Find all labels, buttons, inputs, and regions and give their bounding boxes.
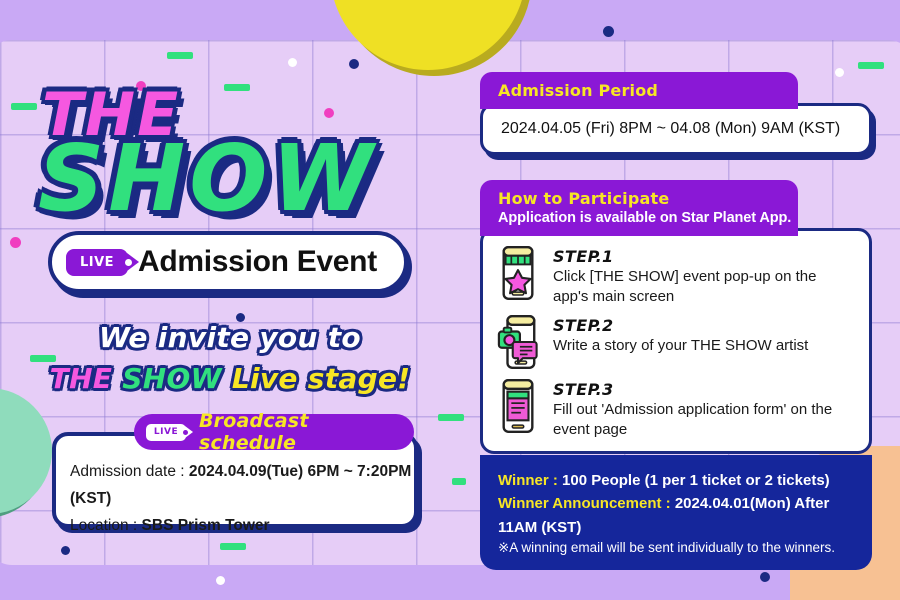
step-item: STEP.3 Fill out 'Admission application f…	[497, 378, 853, 439]
step-title: STEP.3	[553, 380, 853, 399]
schedule-row: Location : SBS Prism Tower	[70, 512, 414, 539]
steps-list: STEP.1 Click [THE SHOW] event pop-up on …	[480, 228, 872, 454]
tagline-the: THE	[50, 362, 123, 395]
live-icon: LIVE	[146, 424, 186, 441]
step-item: STEP.1 Click [THE SHOW] event pop-up on …	[497, 245, 853, 306]
schedule-value: SBS Prism Tower	[142, 517, 270, 534]
admission-period-card: Admission Period 2024.04.05 (Fri) 8PM ~ …	[480, 72, 872, 155]
phone-camera-chat-icon	[497, 314, 539, 370]
logo-text-show: SHOW	[38, 137, 428, 222]
step-description: Fill out 'Admission application form' on…	[553, 400, 853, 439]
broadcast-schedule-card: LIVE Broadcast schedule Admission date :…	[52, 432, 418, 528]
tagline-show: SHOW	[122, 362, 232, 395]
step-description: Write a story of your THE SHOW artist	[553, 336, 808, 356]
schedule-label: Admission date :	[70, 463, 189, 480]
live-badge-label: LIVE	[80, 255, 114, 270]
winner-info-card: Winner : 100 People (1 per 1 ticket or 2…	[480, 455, 872, 570]
admission-event-label: Admission Event	[138, 245, 377, 279]
step-description: Click [THE SHOW] event pop-up on the app…	[553, 267, 853, 306]
winner-note: ※A winning email will be sent individual…	[498, 540, 854, 556]
tagline-live-stage: Live stage!	[232, 362, 410, 395]
step-text: STEP.2 Write a story of your THE SHOW ar…	[553, 314, 808, 356]
poster-root: THE SHOW LIVE Admission Event We invite …	[0, 0, 900, 600]
live-badge-label: LIVE	[154, 427, 178, 437]
phone-shop-star-icon	[497, 245, 539, 301]
phone-form-icon	[497, 378, 539, 434]
live-lens-dot	[183, 430, 188, 435]
admission-period-title: Admission Period	[498, 81, 798, 100]
schedule-label: Location :	[70, 517, 142, 534]
step-title: STEP.2	[553, 316, 808, 335]
step-item: STEP.2 Write a story of your THE SHOW ar…	[497, 314, 853, 370]
how-to-participate-title: How to Participate	[498, 189, 798, 208]
step-title: STEP.1	[553, 247, 853, 266]
winner-label: Winner :	[498, 472, 562, 489]
the-show-logo: THE SHOW	[38, 88, 428, 222]
how-to-participate-header: How to Participate Application is availa…	[480, 180, 798, 236]
how-to-participate-subtitle: Application is available on Star Planet …	[498, 210, 798, 226]
how-to-participate-card: How to Participate Application is availa…	[480, 180, 872, 454]
live-lens-dot	[125, 259, 132, 266]
live-icon: LIVE	[66, 249, 128, 276]
broadcast-schedule-label: Broadcast schedule	[199, 410, 394, 454]
winner-announcement-line: Winner Announcement : 2024.04.01(Mon) Af…	[498, 492, 854, 539]
admission-period-value: 2024.04.05 (Fri) 8PM ~ 04.08 (Mon) 9AM (…	[501, 120, 851, 138]
winner-line: Winner : 100 People (1 per 1 ticket or 2…	[498, 469, 854, 492]
tagline-line-1: We invite you to	[0, 318, 460, 359]
left-column: THE SHOW LIVE Admission Event We invite …	[0, 0, 460, 600]
winner-value: 100 People (1 per 1 ticket or 2 tickets)	[562, 472, 830, 489]
right-column: Admission Period 2024.04.05 (Fri) 8PM ~ …	[470, 0, 900, 600]
step-text: STEP.3 Fill out 'Admission application f…	[553, 378, 853, 439]
tagline-line-2: THE SHOW Live stage!	[0, 359, 460, 400]
tagline: We invite you to THE SHOW Live stage!	[0, 318, 460, 399]
admission-period-header: Admission Period	[480, 72, 798, 109]
schedule-row: Admission date : 2024.04.09(Tue) 6PM ~ 7…	[70, 458, 414, 512]
admission-event-title-bar: LIVE Admission Event	[48, 231, 408, 293]
broadcast-schedule-pill: LIVE Broadcast schedule	[134, 414, 414, 450]
step-text: STEP.1 Click [THE SHOW] event pop-up on …	[553, 245, 853, 306]
winner-announcement-label: Winner Announcement :	[498, 495, 675, 512]
admission-period-body: 2024.04.05 (Fri) 8PM ~ 04.08 (Mon) 9AM (…	[480, 103, 872, 155]
